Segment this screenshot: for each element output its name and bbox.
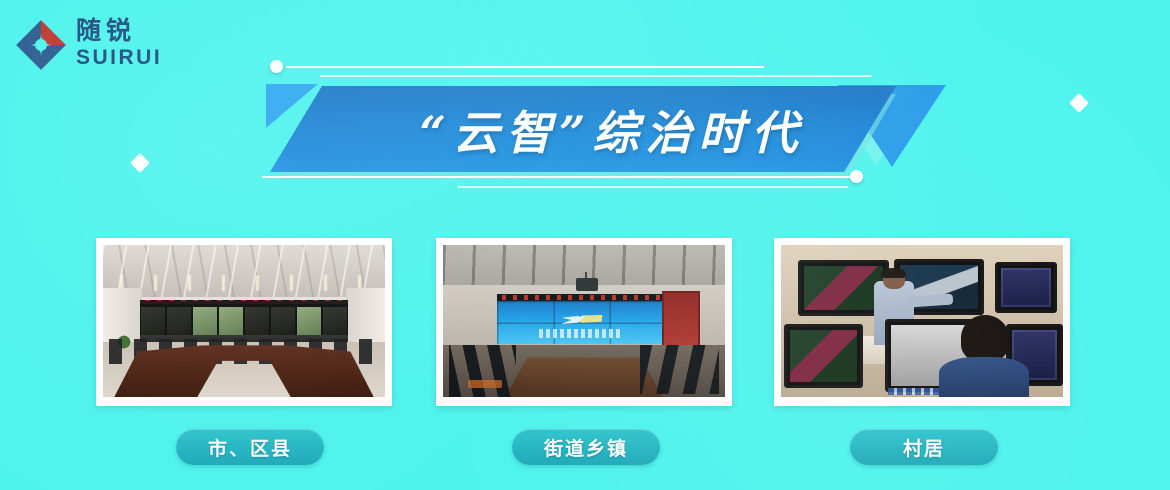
title-banner: “云智”综治时代 [262, 58, 952, 193]
diamond-icon [130, 153, 150, 173]
card-village[interactable] [774, 238, 1070, 406]
banner-top-line-1 [286, 66, 764, 68]
command-center-video-wall-photo [103, 245, 385, 397]
circle-dot-icon [270, 60, 283, 73]
slide-canvas: 随锐 SUIRUI “云智”综治时代 [0, 0, 1170, 490]
brand-name-cn: 随锐 [76, 16, 176, 46]
page-title: “云智”综治时代 [332, 88, 892, 172]
banner-top-line-2 [320, 75, 872, 77]
card-street-township[interactable] [436, 238, 732, 406]
card-city-district[interactable] [96, 238, 392, 406]
banner-bottom-line-1 [262, 176, 862, 178]
banner-bottom-line-2 [458, 186, 848, 188]
brand-name-en: SUIRUI [76, 46, 176, 70]
pinwheel-logo-icon [14, 18, 68, 72]
meeting-room-blue-screen-photo [443, 245, 725, 397]
photo-card-row [0, 238, 1170, 418]
brand-wordmark: 随锐 SUIRUI [76, 16, 176, 70]
officer-monitoring-station-photo [781, 245, 1063, 397]
circle-dot-icon-2 [850, 170, 863, 183]
label-city-district[interactable]: 市、区县 [176, 429, 324, 465]
brand-logo[interactable]: 随锐 SUIRUI [14, 14, 174, 76]
diamond-icon [1069, 93, 1089, 113]
label-street-township[interactable]: 街道乡镇 [512, 429, 660, 465]
label-village[interactable]: 村居 [850, 429, 998, 465]
